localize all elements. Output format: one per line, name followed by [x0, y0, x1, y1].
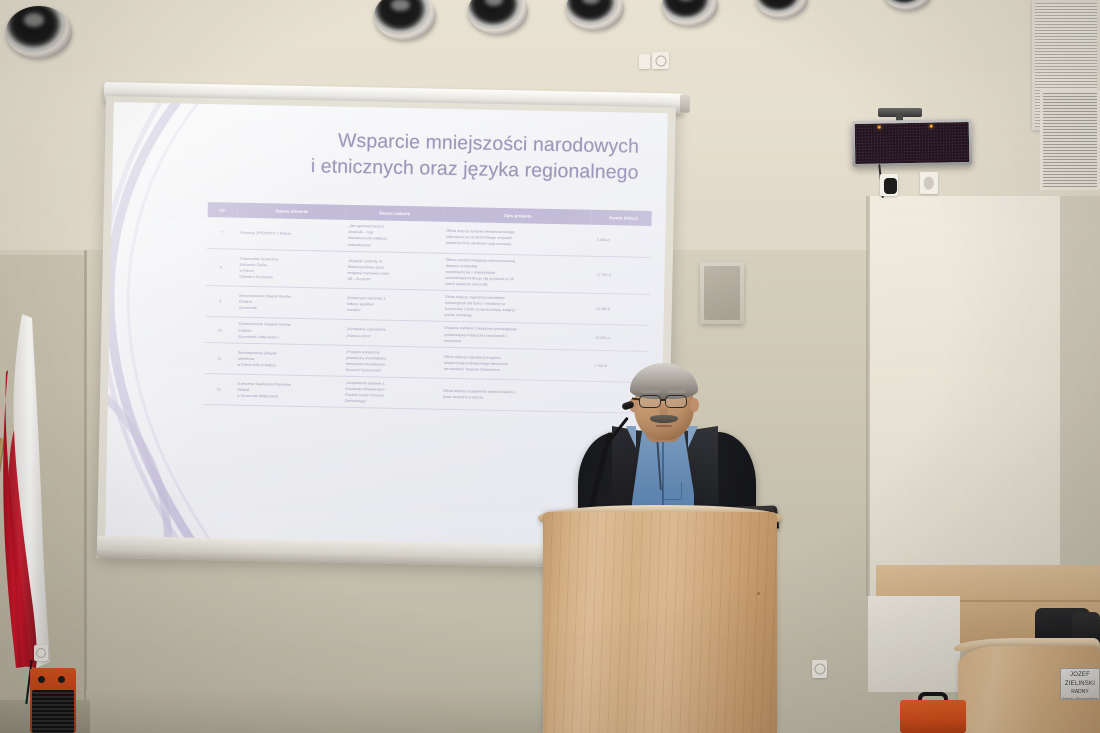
- cell-zadanie: „Edukacyjne warsztaty zkulturą i językie…: [344, 288, 443, 321]
- cell-text-line: Oddział w Szczecinie: [239, 274, 341, 282]
- cell-opis: Wsparcie wydania czasopisma poruszająceg…: [441, 322, 589, 350]
- cell-text-line: kalendarzowa": [348, 241, 440, 249]
- cell-kwota: 10 000 zł: [589, 325, 649, 351]
- cell-oferent: Towarzystwo Społeczno-Kulturalne Żydóww …: [236, 249, 345, 289]
- nameplate-line-1: JÓZEF: [1062, 671, 1098, 680]
- speaker-face: [704, 266, 740, 320]
- cell-kwota: 10 000 zł: [590, 293, 651, 326]
- led-indicator-icon: [930, 125, 933, 128]
- white-wall-panel: [868, 596, 960, 692]
- moustache: [650, 415, 678, 423]
- cell-text-line: „Romano Atmo": [346, 332, 438, 340]
- slide-title: Wsparcie mniejszości narodowych i etnicz…: [130, 125, 653, 187]
- cell-text-line: romskim": [347, 307, 439, 315]
- cell-zadanie: „Wydawanie czasopisma„Romano Atmo": [343, 320, 441, 347]
- cell-text-line: Fundacja „PROSVITA" z Wałcza: [240, 230, 342, 238]
- cell-kwota: 12 700 zł: [590, 256, 651, 295]
- wall-seam: [84, 250, 87, 733]
- toolbox: [900, 700, 966, 733]
- cell-opis: Oferta umożliwi integrację międzynarodow…: [442, 253, 591, 293]
- shirt-collar-left: [626, 426, 636, 448]
- ear-right: [690, 398, 699, 412]
- glasses-bridge: [661, 399, 666, 401]
- column-header-lp: Lp.: [208, 202, 238, 218]
- cell-oferent: Stowarzyszenie ZwiązekUkraińcóww Polsce …: [234, 343, 343, 377]
- cell-lp: 7.: [207, 217, 238, 248]
- wall-speaker: [700, 262, 744, 324]
- wall-socket-icon: [812, 660, 827, 678]
- glasses-lens-right: [665, 395, 687, 408]
- cell-lp: 12.: [204, 374, 235, 406]
- cell-zadanie: „Wyjazdy i powroty. IVMiędzynarodowy Zja…: [344, 251, 443, 290]
- cell-opis: Oferta dotyczy wydania wielopłaszczowego…: [443, 222, 592, 256]
- heater-grille-icon: [32, 690, 74, 733]
- polish-flag: [2, 310, 54, 670]
- podium: [543, 512, 777, 733]
- cell-opis: Oferta dotyczy organizacji warsztatówedu…: [442, 290, 591, 324]
- conference-room-photo: Wsparcie mniejszości narodowych i etnicz…: [0, 0, 1100, 733]
- far-right-wall: [1060, 196, 1100, 616]
- shirt-pocket: [662, 482, 682, 500]
- wall-socket-icon: [920, 172, 938, 194]
- cell-text-line: w Polsce Koło w Wałczu: [238, 362, 340, 370]
- power-plug-icon: [884, 178, 897, 194]
- cell-zadanie: „Program artystycznypoświęcony ukraiński…: [342, 345, 441, 378]
- nameplate-line-3: RADNY: [1062, 689, 1098, 697]
- wall-socket-icon: [34, 645, 48, 661]
- roller-end-cap: [680, 95, 690, 113]
- podium-wood-grain: [543, 512, 777, 733]
- led-display-board: [852, 119, 973, 167]
- cell-oferent: Stowarzyszenie Związek RomówPolskichSzcz…: [235, 318, 343, 345]
- nameplate: JÓZEF ZIELINSKI RADNY Sejmiku Województw…: [1060, 668, 1100, 700]
- nameplate-line-2: ZIELINSKI: [1062, 680, 1098, 689]
- heater-knob-icon[interactable]: [38, 676, 45, 683]
- cell-text-line: w Szczecinie (Mały Grant): [237, 393, 339, 401]
- podium-screw-icon: [757, 592, 760, 595]
- cell-text-line: Szczecinek: [239, 305, 341, 313]
- right-wall-edge: [866, 196, 870, 596]
- cell-kwota: 5 600 zł: [591, 225, 652, 257]
- eyebrow-left: [641, 390, 660, 393]
- cell-lp: 11.: [204, 342, 235, 374]
- heater-knob-icon[interactable]: [58, 676, 65, 683]
- column-header-kwota: Kwota dotacji: [592, 210, 652, 226]
- cell-oferent: Zrzeszenie Kaszubsko-PomorskieOddziałw S…: [234, 374, 343, 408]
- cell-lp: 10.: [205, 317, 236, 343]
- ventilation-grille-icon: [1040, 90, 1100, 190]
- cell-oferent: Stowarzyszenie Związek RomówPolskichSzcz…: [236, 286, 345, 320]
- cell-oferent: Fundacja „PROSVITA" z Wałcza: [237, 218, 346, 251]
- eyebrow-right: [667, 390, 686, 393]
- cell-text-line: Zachodniego": [345, 398, 437, 406]
- lower-wall-trim: [86, 690, 546, 733]
- cell-text-line: '68 – Szczecin": [347, 276, 439, 284]
- glasses-lens-left: [639, 395, 661, 408]
- ceiling-light-icon: [6, 6, 72, 58]
- wall-socket-icon: [652, 52, 669, 69]
- cell-zadanie: „Jak ugotować barszczukraiński – czylini…: [345, 220, 444, 253]
- cell-lp: 9.: [206, 286, 237, 318]
- cell-text-line: Tarasowi Szewczence": [345, 367, 437, 375]
- cell-zadanie: „Uzupełnienie wystawy ZKaszubsko-Słowiań…: [342, 376, 441, 409]
- wall-switch-icon[interactable]: [639, 54, 650, 69]
- hair: [630, 363, 698, 399]
- led-indicator-icon: [878, 126, 881, 129]
- led-matrix-icon: [855, 122, 970, 164]
- nameplate-line-4: Sejmiku Województwa: [1062, 697, 1098, 701]
- shirt-collar-right: [688, 426, 698, 448]
- cell-text-line: Szczecinek ( Mały Grant ): [238, 333, 340, 341]
- cell-lp: 8.: [206, 248, 237, 286]
